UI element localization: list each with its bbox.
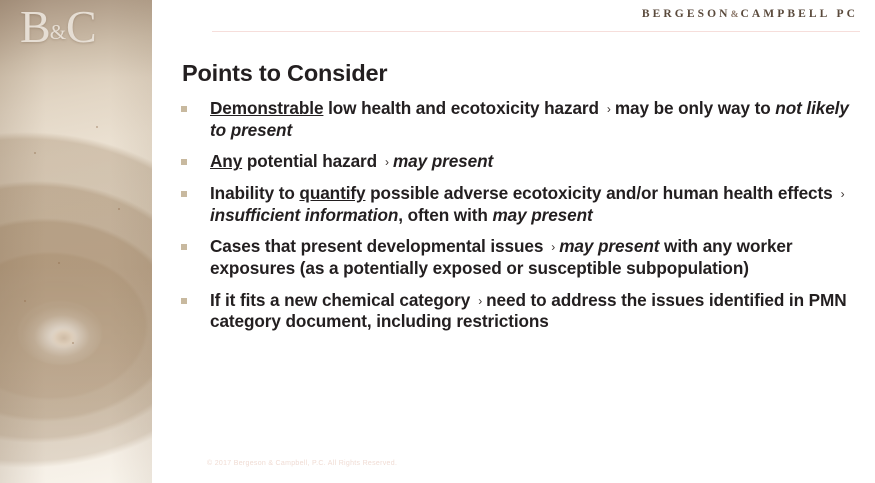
bullet-emphasis-italic: may present (393, 151, 493, 171)
bullet-emphasis-underline: Any (210, 151, 242, 171)
header-divider-rule (212, 31, 860, 32)
bullet-square-icon (181, 106, 187, 112)
arrow-separator-icon: › (543, 240, 559, 255)
arrow-separator-icon: › (470, 294, 486, 309)
slide-content: BERGESON&CAMPBELLPC Points to Consider D… (152, 0, 875, 483)
bullet-square-icon (181, 298, 187, 304)
shell-speck (118, 208, 120, 210)
bullet-emphasis-underline: Demonstrable (210, 98, 323, 118)
bullet-text: , often with (398, 205, 492, 225)
shell-shading-overlay (0, 0, 152, 483)
shell-speck (34, 152, 36, 154)
logo-letter-c: C (66, 1, 96, 52)
bullet-square-icon (181, 244, 187, 250)
logo-letter-b: B (20, 1, 50, 52)
bullet-text: Inability to (210, 183, 299, 203)
shell-speck (58, 262, 60, 264)
firm-name-campbell: CAMPBELL (740, 8, 830, 20)
bullet-demonstrable: Demonstrable low health and ecotoxicity … (178, 98, 868, 141)
bullet-emphasis-italic: may present (492, 205, 592, 225)
firm-name-pc: PC (836, 8, 858, 20)
presentation-slide: B&C BERGESON&CAMPBELLPC Points to Consid… (0, 0, 875, 483)
bullet-text: possible adverse ecotoxicity and/or huma… (365, 183, 832, 203)
bc-logo: B&C (20, 4, 96, 50)
arrow-separator-icon: › (377, 155, 393, 170)
shell-speck (96, 126, 98, 128)
bullet-text: potential hazard (242, 151, 377, 171)
bullet-inability-to-quantify: Inability to quantify possible adverse e… (178, 183, 868, 226)
bullet-emphasis-underline: quantify (299, 183, 365, 203)
firm-name-bergeson: BERGESON (642, 8, 731, 20)
bullet-text: low health and ecotoxicity hazard (323, 98, 598, 118)
shell-speck (24, 300, 26, 302)
page-title: Points to Consider (182, 60, 387, 87)
bullet-square-icon (181, 191, 187, 197)
bullet-any-potential-hazard: Any potential hazard›may present (178, 151, 868, 173)
bullet-new-chemical-category: If it fits a new chemical category›need … (178, 290, 868, 333)
logo-ampersand: & (50, 20, 66, 44)
arrow-separator-icon: › (599, 102, 615, 117)
bullet-emphasis-italic: insufficient information (210, 205, 398, 225)
bullet-emphasis-italic: may present (559, 236, 659, 256)
bullet-square-icon (181, 159, 187, 165)
bullet-list: Demonstrable low health and ecotoxicity … (178, 98, 868, 333)
bullet-text: may be only way to (615, 98, 775, 118)
bullet-text: If it fits a new chemical category (210, 290, 470, 310)
copyright-notice: © 2017 Bergeson & Campbell, P.C. All Rig… (207, 460, 397, 467)
shell-speck (72, 342, 74, 344)
arrow-separator-icon: › (833, 187, 849, 202)
bullet-text: Cases that present developmental issues (210, 236, 543, 256)
firm-name-ampersand: & (731, 10, 741, 20)
firm-name-header: BERGESON&CAMPBELLPC (642, 8, 858, 20)
shell-image-panel: B&C (0, 0, 152, 483)
bullet-developmental-issues: Cases that present developmental issues›… (178, 236, 868, 279)
